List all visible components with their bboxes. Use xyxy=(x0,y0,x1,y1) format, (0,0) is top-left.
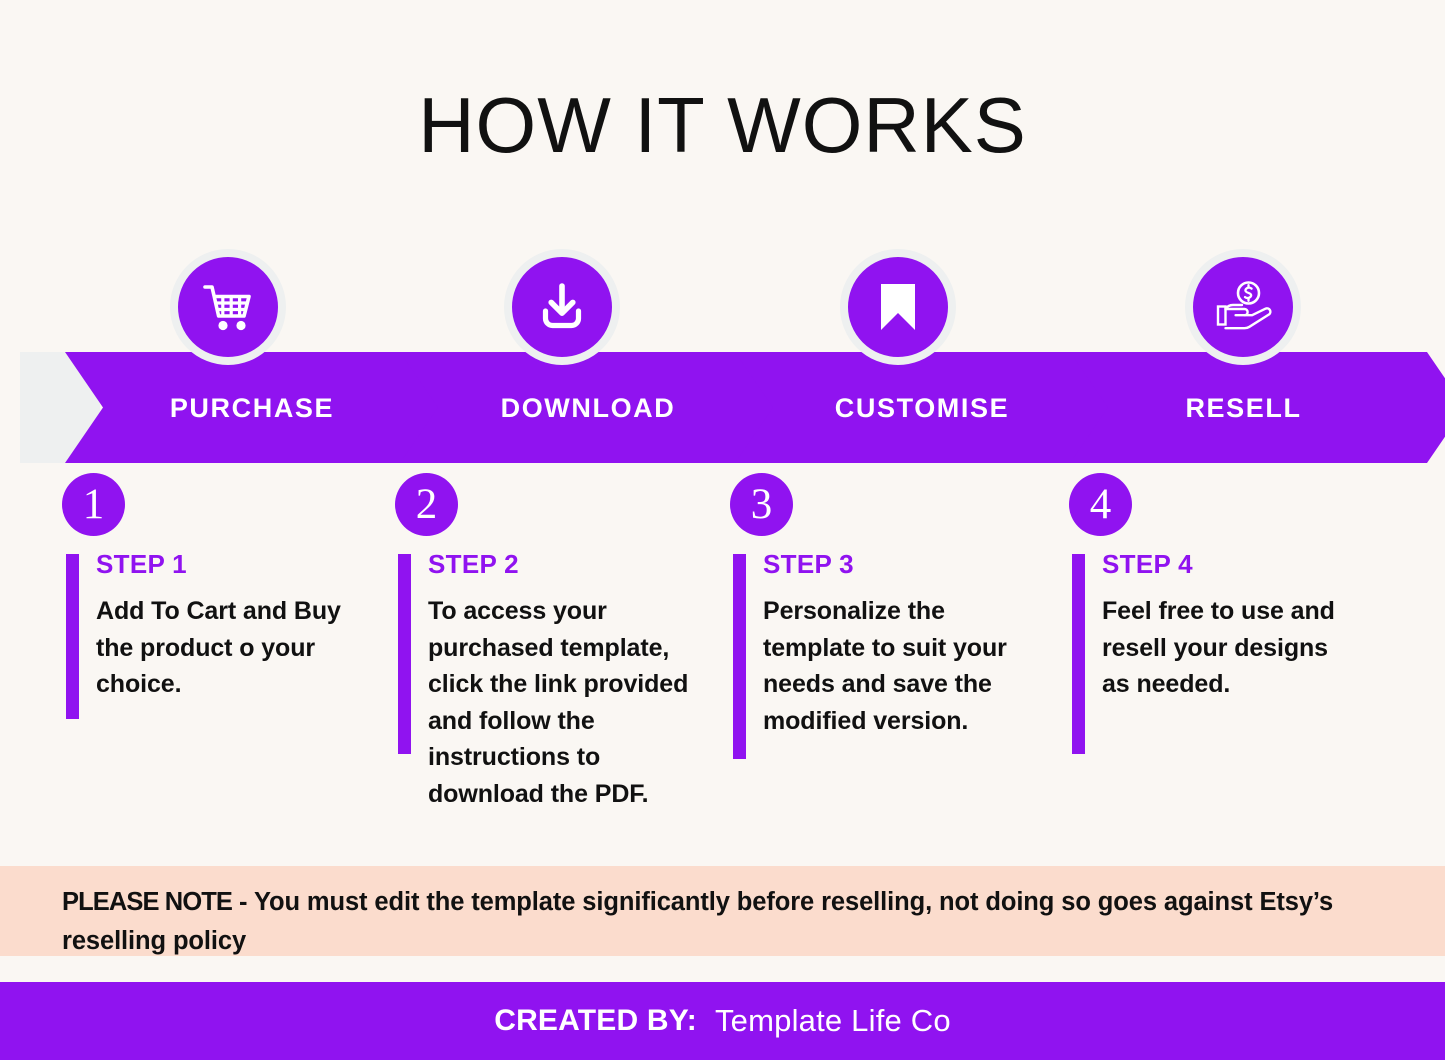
step-block-3: STEP 3 Personalize the template to suit … xyxy=(733,549,1023,739)
step-number-badge: 4 xyxy=(1069,473,1132,536)
please-note-band: PLEASE NOTE - You must edit the template… xyxy=(0,866,1445,956)
step-label: STEP 2 xyxy=(428,549,698,579)
flow-stage-label: PURCHASE xyxy=(170,393,334,424)
flow-stage-label: DOWNLOAD xyxy=(501,393,676,424)
flow-stage-resell[interactable]: RESELL xyxy=(1070,352,1445,463)
step-accent-bar xyxy=(733,554,746,759)
stage-icon-badge-customise xyxy=(840,249,956,365)
step-block-4: STEP 4 Feel free to use and resell your … xyxy=(1072,549,1362,703)
step-label: STEP 1 xyxy=(96,549,366,579)
step-accent-bar xyxy=(1072,554,1085,754)
step-body: STEP 3 Personalize the template to suit … xyxy=(763,549,1023,739)
infographic-canvas: HOW IT WORKS PURCHASE DOWNLOAD CUSTOMISE… xyxy=(0,0,1445,1060)
step-accent-bar xyxy=(398,554,411,754)
step-body: STEP 1 Add To Cart and Buy the product o… xyxy=(96,549,366,703)
flow-stage-label: CUSTOMISE xyxy=(835,393,1009,424)
shopping-cart-icon xyxy=(199,278,257,336)
step-description: To access your purchased template, click… xyxy=(428,593,698,812)
step-body: STEP 4 Feel free to use and resell your … xyxy=(1102,549,1362,703)
stage-icon-badge-download xyxy=(504,249,620,365)
hand-holding-coin-icon xyxy=(1213,278,1273,336)
step-description: Personalize the template to suit your ne… xyxy=(763,593,1023,739)
stage-icon-badge-resell xyxy=(1185,249,1301,365)
page-title: HOW IT WORKS xyxy=(0,82,1445,168)
step-number-badge: 1 xyxy=(62,473,125,536)
process-flow-band: PURCHASE DOWNLOAD CUSTOMISE RESELL xyxy=(0,352,1445,463)
bookmark-icon xyxy=(872,278,924,336)
step-description: Add To Cart and Buy the product o your c… xyxy=(96,593,366,703)
flow-stage-purchase[interactable]: PURCHASE xyxy=(65,352,451,463)
stage-icon-badge-purchase xyxy=(170,249,286,365)
please-note-heading: PLEASE NOTE xyxy=(62,888,232,916)
please-note-text: PLEASE NOTE - You must edit the template… xyxy=(62,883,1392,961)
step-accent-bar xyxy=(66,554,79,719)
flow-stage-customise[interactable]: CUSTOMISE xyxy=(735,352,1121,463)
step-block-2: STEP 2 To access your purchased template… xyxy=(398,549,698,812)
flow-stage-label: RESELL xyxy=(1185,393,1301,424)
please-note-body: - You must edit the template significant… xyxy=(62,888,1333,955)
download-icon xyxy=(533,278,591,336)
flow-stage-download[interactable]: DOWNLOAD xyxy=(400,352,786,463)
step-label: STEP 3 xyxy=(763,549,1023,579)
step-number-badge: 3 xyxy=(730,473,793,536)
brand-name: Template Life Co xyxy=(715,1003,951,1039)
step-block-1: STEP 1 Add To Cart and Buy the product o… xyxy=(66,549,366,703)
step-label: STEP 4 xyxy=(1102,549,1362,579)
step-number-badge: 2 xyxy=(395,473,458,536)
footer-bar: CREATED BY: Template Life Co xyxy=(0,982,1445,1060)
step-description: Feel free to use and resell your designs… xyxy=(1102,593,1362,703)
created-by-label: CREATED BY: xyxy=(494,1004,697,1038)
step-body: STEP 2 To access your purchased template… xyxy=(428,549,698,812)
